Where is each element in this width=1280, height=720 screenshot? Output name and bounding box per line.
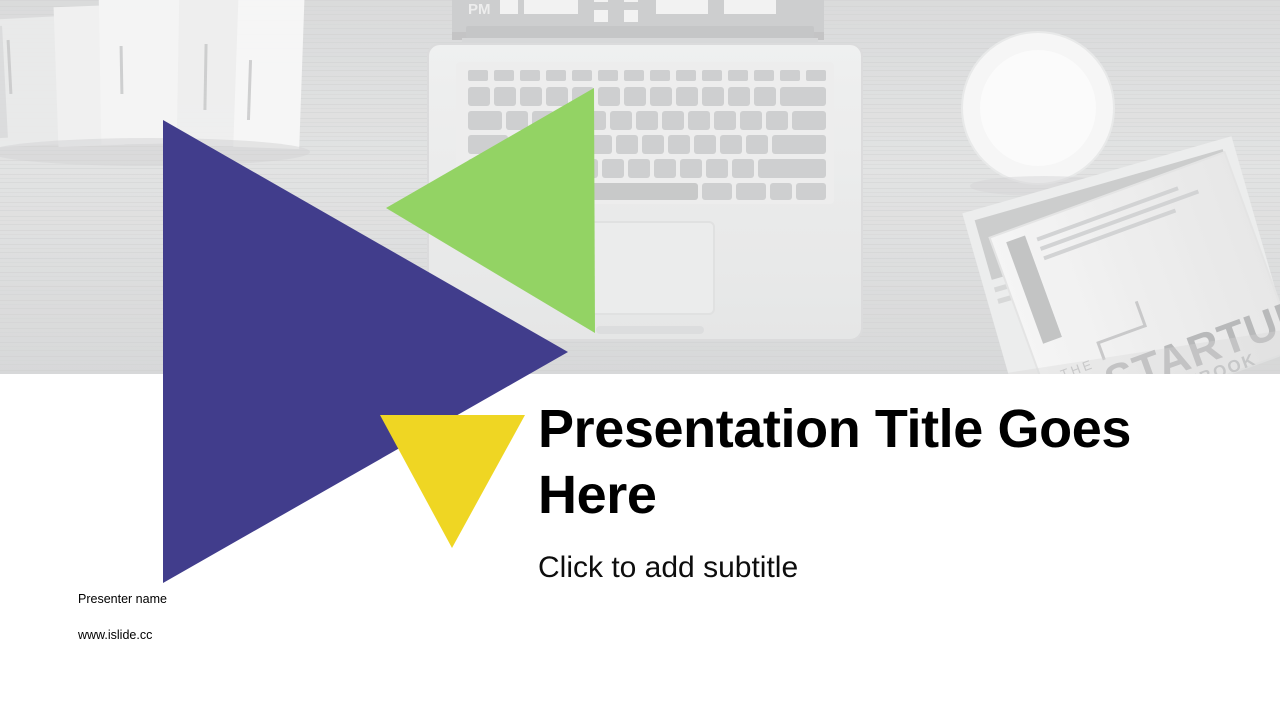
footer-block: Presenter name www.islide.cc: [78, 592, 338, 643]
subtitle-placeholder[interactable]: Click to add subtitle: [538, 550, 1198, 586]
desk-workspace-photo: PM: [0, 0, 1280, 374]
presentation-slide: PM: [0, 0, 1280, 720]
yellow-triangle: [380, 415, 525, 548]
slide-background-image: PM: [0, 0, 1280, 374]
page-title[interactable]: Presentation Title Goes Here: [538, 396, 1198, 528]
website-url[interactable]: www.islide.cc: [78, 628, 338, 643]
presenter-name[interactable]: Presenter name: [78, 592, 338, 607]
title-text-block: Presentation Title Goes Here Click to ad…: [538, 396, 1198, 586]
